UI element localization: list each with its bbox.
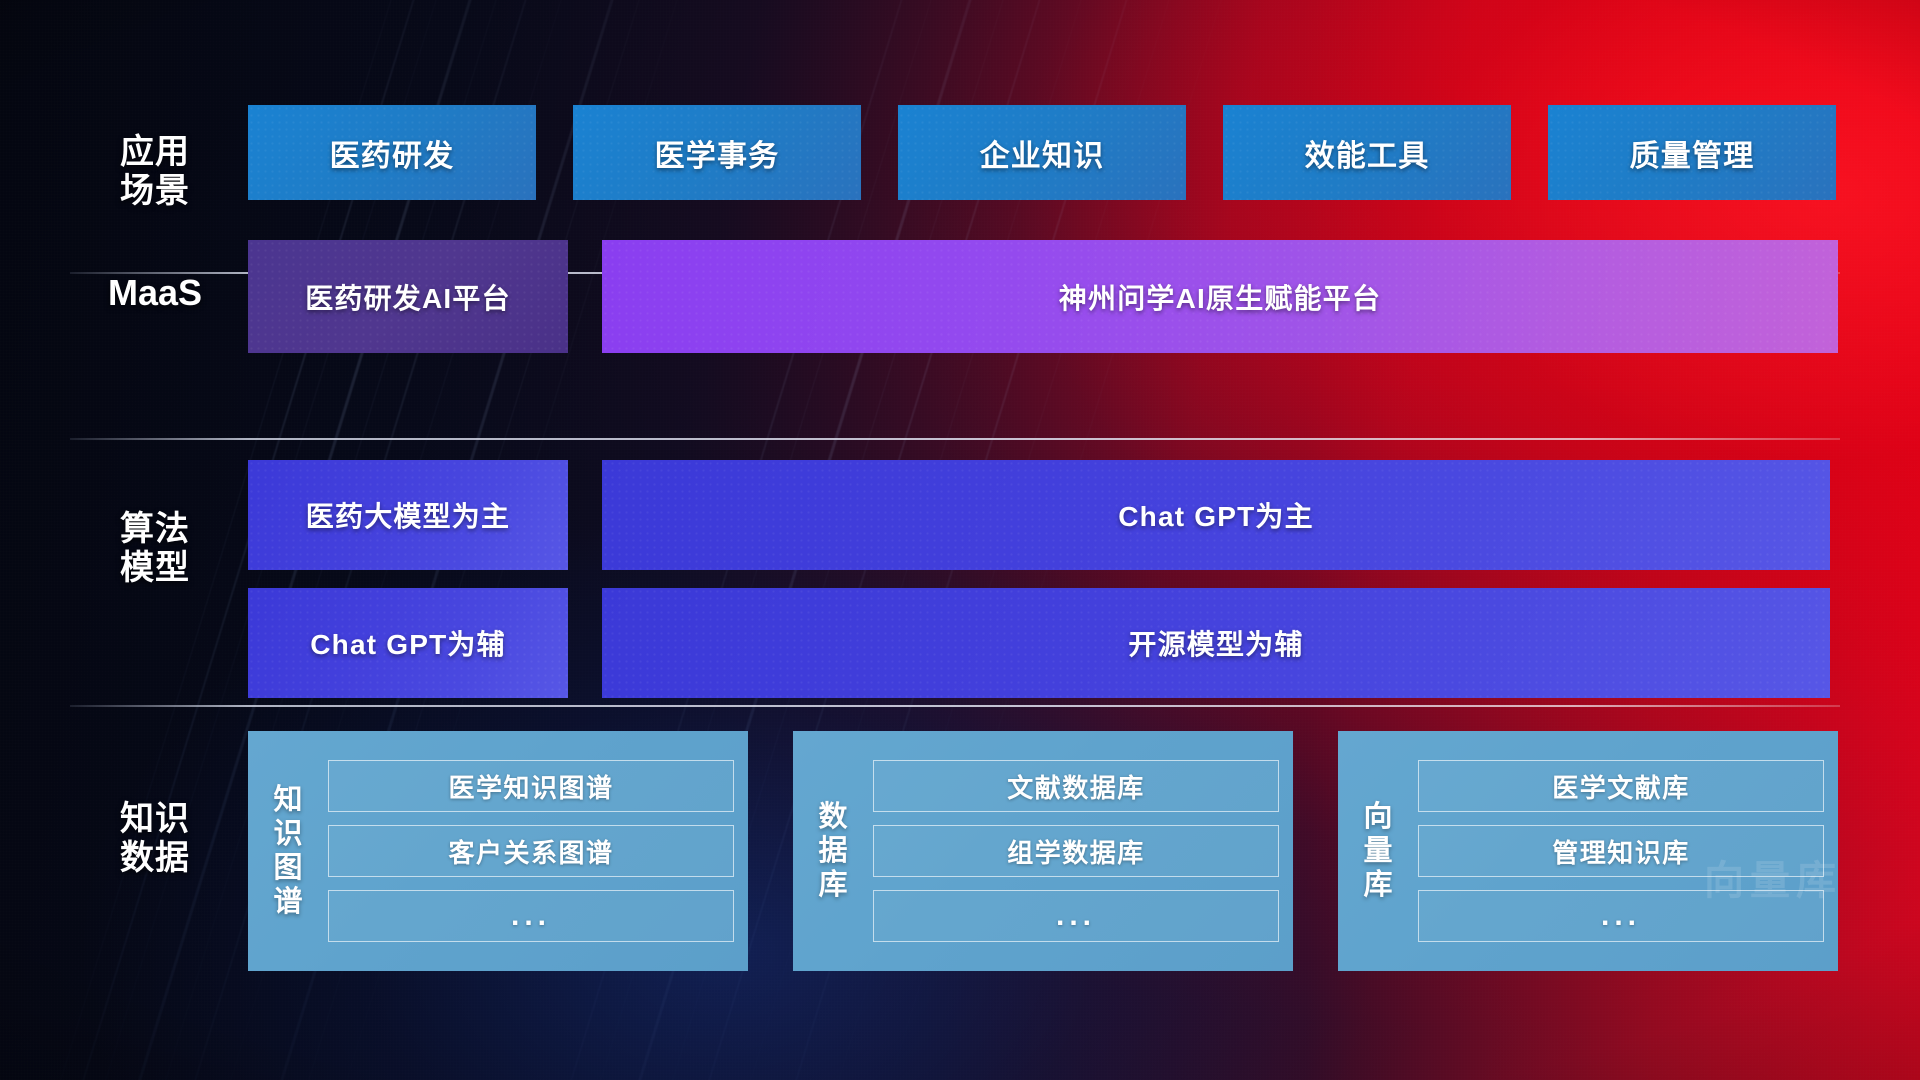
knowledge-item[interactable]: 客户关系图谱 bbox=[328, 825, 734, 877]
app-card-4[interactable]: 效能工具 bbox=[1223, 105, 1511, 200]
app-card-4-label: 效能工具 bbox=[1305, 131, 1430, 175]
diagram-content: 应用 场景 医药研发 医学事务 企业知识 效能工具 质量管理 MaaS 医药研发… bbox=[0, 0, 1920, 1080]
algo-card-row2-right-label: 开源模型为辅 bbox=[1128, 623, 1303, 663]
knowledge-group-graph-title: 知 识 图 谱 bbox=[258, 783, 320, 920]
knowledge-item[interactable]: 文献数据库 bbox=[873, 760, 1279, 812]
app-card-1[interactable]: 医药研发 bbox=[248, 105, 536, 200]
knowledge-item[interactable]: 医学知识图谱 bbox=[328, 760, 734, 812]
algo-card-row2-left[interactable]: Chat GPT为辅 bbox=[248, 588, 568, 698]
row-label-application: 应用 场景 bbox=[95, 133, 215, 212]
knowledge-group-vector-items: 医学文献库 管理知识库 ... bbox=[1410, 760, 1824, 942]
divider-maas-algorithm bbox=[70, 438, 1840, 440]
app-card-1-label: 医药研发 bbox=[330, 131, 455, 175]
knowledge-item-more[interactable]: ... bbox=[328, 890, 734, 942]
app-card-2-label: 医学事务 bbox=[655, 131, 780, 175]
maas-card-shenzhou-platform[interactable]: 神州问学AI原生赋能平台 bbox=[602, 240, 1838, 353]
knowledge-group-vector-title: 向 量 库 bbox=[1348, 800, 1410, 903]
knowledge-group-graph[interactable]: 知 识 图 谱 医学知识图谱 客户关系图谱 ... bbox=[248, 731, 748, 971]
algo-card-row1-right[interactable]: Chat GPT为主 bbox=[602, 460, 1830, 570]
app-card-5[interactable]: 质量管理 bbox=[1548, 105, 1836, 200]
knowledge-item[interactable]: 组学数据库 bbox=[873, 825, 1279, 877]
knowledge-group-vector[interactable]: 向 量 库 医学文献库 管理知识库 ... bbox=[1338, 731, 1838, 971]
algo-card-row1-right-label: Chat GPT为主 bbox=[1118, 495, 1314, 535]
knowledge-group-database[interactable]: 数 据 库 文献数据库 组学数据库 ... bbox=[793, 731, 1293, 971]
row-label-algorithm: 算法 模型 bbox=[95, 510, 215, 589]
knowledge-group-graph-items: 医学知识图谱 客户关系图谱 ... bbox=[320, 760, 734, 942]
knowledge-item-more[interactable]: ... bbox=[873, 890, 1279, 942]
knowledge-group-database-title: 数 据 库 bbox=[803, 800, 865, 903]
algo-card-row2-left-label: Chat GPT为辅 bbox=[310, 623, 506, 663]
algo-card-row2-right[interactable]: 开源模型为辅 bbox=[602, 588, 1830, 698]
knowledge-item[interactable]: 管理知识库 bbox=[1418, 825, 1824, 877]
row-label-knowledge: 知识 数据 bbox=[95, 800, 215, 879]
divider-algorithm-knowledge bbox=[70, 705, 1840, 707]
maas-card-pharma-platform-label: 医药研发AI平台 bbox=[305, 277, 511, 317]
architecture-diagram-slide: 应用 场景 医药研发 医学事务 企业知识 效能工具 质量管理 MaaS 医药研发… bbox=[0, 0, 1920, 1080]
algo-card-row1-left[interactable]: 医药大模型为主 bbox=[248, 460, 568, 570]
maas-card-shenzhou-platform-label: 神州问学AI原生赋能平台 bbox=[1059, 277, 1381, 317]
algo-card-row1-left-label: 医药大模型为主 bbox=[306, 495, 510, 535]
app-card-3-label: 企业知识 bbox=[980, 131, 1105, 175]
knowledge-item[interactable]: 医学文献库 bbox=[1418, 760, 1824, 812]
row-label-maas: MaaS bbox=[95, 272, 215, 314]
app-card-2[interactable]: 医学事务 bbox=[573, 105, 861, 200]
knowledge-item-more[interactable]: ... bbox=[1418, 890, 1824, 942]
maas-card-pharma-platform[interactable]: 医药研发AI平台 bbox=[248, 240, 568, 353]
app-card-5-label: 质量管理 bbox=[1630, 131, 1755, 175]
app-card-3[interactable]: 企业知识 bbox=[898, 105, 1186, 200]
knowledge-group-database-items: 文献数据库 组学数据库 ... bbox=[865, 760, 1279, 942]
